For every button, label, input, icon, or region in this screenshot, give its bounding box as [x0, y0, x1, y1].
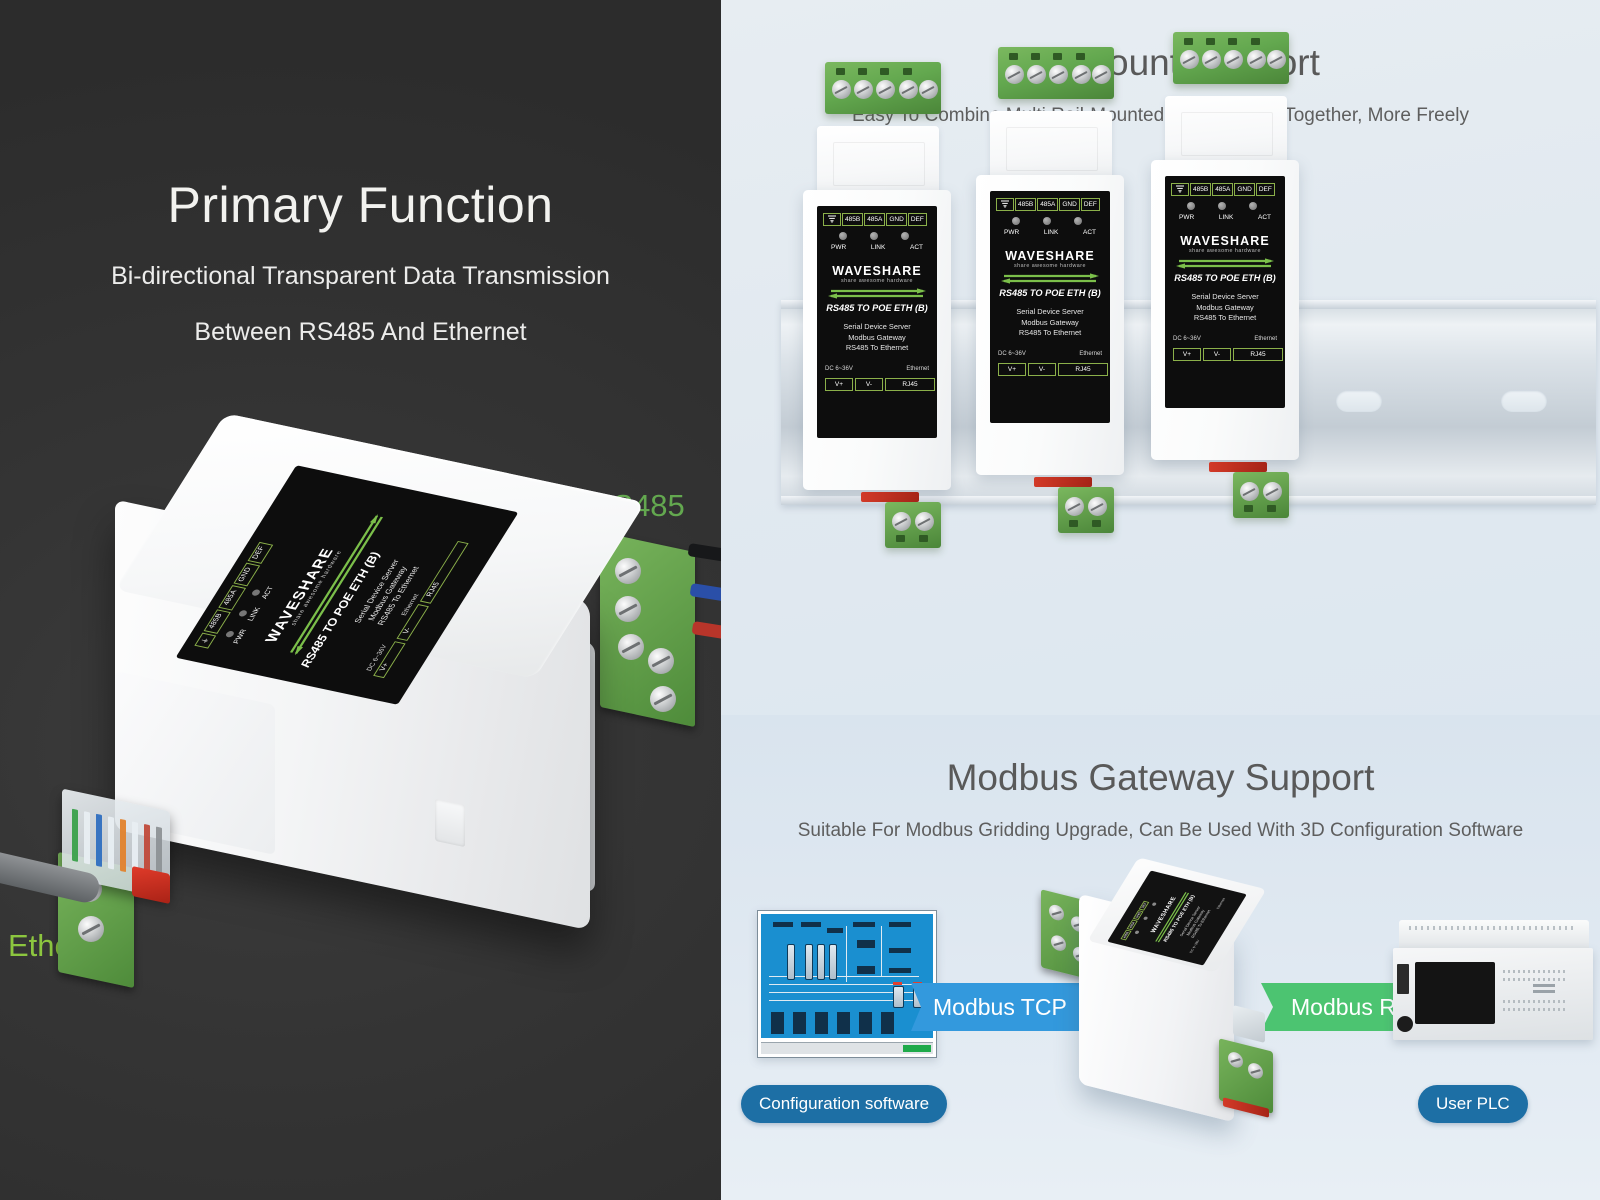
gateway-device: 485B 485A GND DEF WAVESHARE — [1051, 855, 1291, 1115]
top-terminal-block — [825, 62, 941, 114]
label-led-captions: PWR LINK ACT — [831, 244, 923, 251]
bidirectional-arrow-icon — [1174, 258, 1276, 269]
terminal-vminus: V- — [1203, 348, 1231, 361]
desc-line-1: Serial Device Server — [817, 322, 937, 333]
terminal-screw — [615, 558, 641, 584]
desc-line-3: RS485 To Ethernet — [1165, 313, 1285, 324]
terminal-485b: 485B — [1190, 183, 1211, 196]
terminal-def: DEF — [908, 213, 927, 226]
terminal-485b: 485B — [842, 213, 863, 226]
bottom-terminal-block — [1058, 487, 1114, 533]
primary-subtitle-line1: Bi-directional Transparent Data Transmis… — [0, 262, 721, 291]
label-bottom-captions: DC 6~36V Ethernet — [998, 351, 1102, 357]
terminal-vplus: V+ — [1173, 348, 1201, 361]
caption-power: DC 6~36V — [825, 366, 853, 372]
terminal-def: DEF — [247, 542, 273, 564]
led-link-icon — [870, 232, 878, 240]
device-notch — [435, 799, 465, 847]
desc-line-2: Modbus Gateway — [1165, 303, 1285, 314]
caption-ethernet: Ethernet — [1254, 336, 1277, 342]
terminal-vplus: V+ — [998, 363, 1026, 376]
terminal-def: DEF — [1081, 198, 1100, 211]
led-label-act: ACT — [1083, 229, 1096, 236]
led-label-link: LINK — [1044, 229, 1058, 236]
modbus-section-subtitle: Suitable For Modbus Gridding Upgrade, Ca… — [721, 820, 1600, 842]
caption-ethernet: Ethernet — [906, 366, 929, 372]
gnd-symbol-icon — [996, 198, 1014, 211]
led-act-icon — [901, 232, 909, 240]
terminal-screw — [78, 916, 104, 942]
led-label-link: LINK — [1219, 214, 1233, 221]
desc-line-2: Modbus Gateway — [990, 318, 1110, 329]
din-rail-release-clip — [861, 492, 919, 502]
label-bottom-terminals: V+ V- RJ45 — [825, 378, 935, 391]
brand-tagline: share awesome hardware — [990, 263, 1110, 269]
label-description: Serial Device Server Modbus Gateway RS48… — [1165, 292, 1285, 324]
unit-upper-housing — [990, 111, 1112, 183]
terminal-screw — [650, 686, 676, 712]
led-label-pwr: PWR — [831, 244, 846, 251]
rj45-pin — [72, 809, 78, 862]
terminal-vminus: V- — [1028, 363, 1056, 376]
label-led-captions: PWR LINK ACT — [1004, 229, 1096, 236]
primary-function-panel: Primary Function Bi-directional Transpar… — [0, 0, 721, 1200]
label-led-captions: PWR LINK ACT — [1179, 214, 1271, 221]
gnd-symbol-icon: ⏚ — [194, 633, 216, 649]
brand-logo: WAVESHARE — [990, 249, 1110, 263]
bottom-terminal-block — [885, 502, 941, 548]
unit-front-label: 485B 485A GND DEF PWR LINK ACT — [817, 206, 937, 438]
led-pwr-icon — [1187, 202, 1195, 210]
led-label-link: LINK — [871, 244, 885, 251]
model-name: RS485 TO POE ETH (B) — [990, 288, 1110, 298]
unit-front-label: 485B 485A GND DEF PWR LINK ACT — [1165, 176, 1285, 408]
terminal-gnd: GND — [1234, 183, 1254, 196]
led-pwr-icon — [1012, 217, 1020, 225]
terminal-485a: 485A — [1212, 183, 1233, 196]
bidirectional-arrow-icon — [826, 288, 928, 299]
led-link-icon — [238, 610, 249, 618]
led-label-pwr: PWR — [1004, 229, 1019, 236]
terminal-screw — [648, 648, 674, 674]
unit-housing: 485B 485A GND DEF PWR LINK ACT — [976, 175, 1124, 475]
pill-configuration-software[interactable]: Configuration software — [741, 1085, 947, 1123]
led-label-act: ACT — [910, 244, 923, 251]
model-name: RS485 TO POE ETH (B) — [817, 303, 937, 313]
user-plc-device — [1393, 920, 1593, 1045]
led-pwr-icon — [225, 630, 236, 638]
hero-product-photo: ⏚ 485B 485A GND DEF PWR LINK ACT — [40, 430, 720, 990]
unit-housing: 485B 485A GND DEF PWR LINK ACT — [1151, 160, 1299, 460]
terminal-485a: 485A — [1037, 198, 1058, 211]
gnd-symbol-icon — [1171, 183, 1189, 196]
rj45-pin — [108, 816, 114, 869]
label-leds — [839, 232, 909, 240]
rj45-pin — [120, 819, 126, 872]
led-act-icon — [1249, 202, 1257, 210]
brand-logo: WAVESHARE — [1165, 234, 1285, 248]
label-leds — [1187, 202, 1257, 210]
terminal-vminus: V- — [855, 378, 883, 391]
din-rail-release-clip — [1209, 462, 1267, 472]
terminal-485a: 485A — [864, 213, 885, 226]
label-bottom-captions: DC 6~36V Ethernet — [825, 366, 929, 372]
led-link-icon — [1043, 217, 1051, 225]
hmi-canvas — [761, 914, 933, 1038]
desc-line-1: Serial Device Server — [990, 307, 1110, 318]
unit-upper-housing — [1165, 96, 1287, 168]
model-name: RS485 TO POE ETH (B) — [1165, 273, 1285, 283]
led-label-act: ACT — [1258, 214, 1271, 221]
led-link-icon — [1218, 202, 1226, 210]
product-infographic: Primary Function Bi-directional Transpar… — [0, 0, 1600, 1200]
led-label-act: ACT — [261, 586, 275, 600]
terminal-vplus: V+ — [825, 378, 853, 391]
pill-user-plc[interactable]: User PLC — [1418, 1085, 1528, 1123]
led-link-icon — [1143, 916, 1149, 920]
led-act-icon — [1151, 902, 1157, 906]
hmi-status-bar — [761, 1042, 933, 1054]
terminal-rj45: RJ45 — [885, 378, 935, 391]
label-bottom-terminals: V+ V- RJ45 — [998, 363, 1108, 376]
terminal-485b: 485B — [1015, 198, 1036, 211]
brand-tagline: share awesome hardware — [817, 278, 937, 284]
rail-mount-panel: Rail-Mount Support Easy To Combine Multi… — [721, 0, 1600, 715]
modbus-section-title: Modbus Gateway Support — [721, 757, 1600, 799]
terminal-485b: 485B — [204, 609, 231, 634]
plc-display — [1415, 962, 1495, 1024]
led-pwr-icon — [1134, 930, 1140, 934]
label-top-terminals: 485B 485A GND DEF — [823, 213, 927, 226]
desc-line-3: RS485 To Ethernet — [817, 343, 937, 354]
desc-line-1: Serial Device Server — [1165, 292, 1285, 303]
brand-tagline: share awesome hardware — [1165, 248, 1285, 254]
top-terminal-block — [998, 47, 1114, 99]
caption-ethernet: Ethernet — [1079, 351, 1102, 357]
page-title: Primary Function — [0, 176, 721, 234]
led-act-icon — [251, 589, 262, 597]
terminal-485b: 485B — [1120, 930, 1131, 941]
unit-housing: 485B 485A GND DEF PWR LINK ACT — [803, 190, 951, 490]
desc-line-2: Modbus Gateway — [817, 333, 937, 344]
label-leds — [1012, 217, 1082, 225]
top-terminal-block — [1173, 32, 1289, 84]
desc-line-3: RS485 To Ethernet — [990, 328, 1110, 339]
led-act-icon — [1074, 217, 1082, 225]
terminal-gnd: GND — [886, 213, 906, 226]
rs485-terminal-block — [600, 532, 695, 727]
brand-logo: WAVESHARE — [817, 264, 937, 278]
primary-subtitle-line2: Between RS485 And Ethernet — [0, 318, 721, 347]
configuration-software-screen — [757, 910, 937, 1058]
caption-power: DC 6~36V — [998, 351, 1026, 357]
din-rail-release-clip — [1034, 477, 1092, 487]
terminal-screw — [618, 634, 644, 660]
label-top-terminals: 485B 485A GND DEF — [996, 198, 1100, 211]
label-top-terminals: 485B 485A GND DEF — [1171, 183, 1275, 196]
label-description: Serial Device Server Modbus Gateway RS48… — [990, 307, 1110, 339]
caption-power: DC 6~36V — [1173, 336, 1201, 342]
terminal-screw — [615, 596, 641, 622]
unit-upper-housing — [817, 126, 939, 198]
rj45-connector — [1233, 1005, 1265, 1043]
unit-front-label: 485B 485A GND DEF PWR LINK ACT — [990, 191, 1110, 423]
label-description: Serial Device Server Modbus Gateway RS48… — [817, 322, 937, 354]
terminal-rj45: RJ45 — [1058, 363, 1108, 376]
terminal-def: DEF — [1256, 183, 1275, 196]
gnd-symbol-icon — [823, 213, 841, 226]
label-bottom-captions: DC 6~36V Ethernet — [1173, 336, 1277, 342]
terminal-gnd: GND — [1059, 198, 1079, 211]
bidirectional-arrow-icon — [999, 273, 1101, 284]
terminal-gnd: GND — [233, 563, 260, 587]
label-bottom-terminals: V+ V- RJ45 — [1173, 348, 1283, 361]
rj45-pin — [84, 811, 90, 864]
terminal-485a: 485A — [218, 586, 245, 611]
led-label-pwr: PWR — [1179, 214, 1194, 221]
rj45-pin — [96, 814, 102, 867]
led-pwr-icon — [839, 232, 847, 240]
terminal-rj45: RJ45 — [1233, 348, 1283, 361]
modbus-gateway-panel: Modbus Gateway Support Suitable For Modb… — [721, 715, 1600, 1200]
bottom-terminal-block — [1233, 472, 1289, 518]
